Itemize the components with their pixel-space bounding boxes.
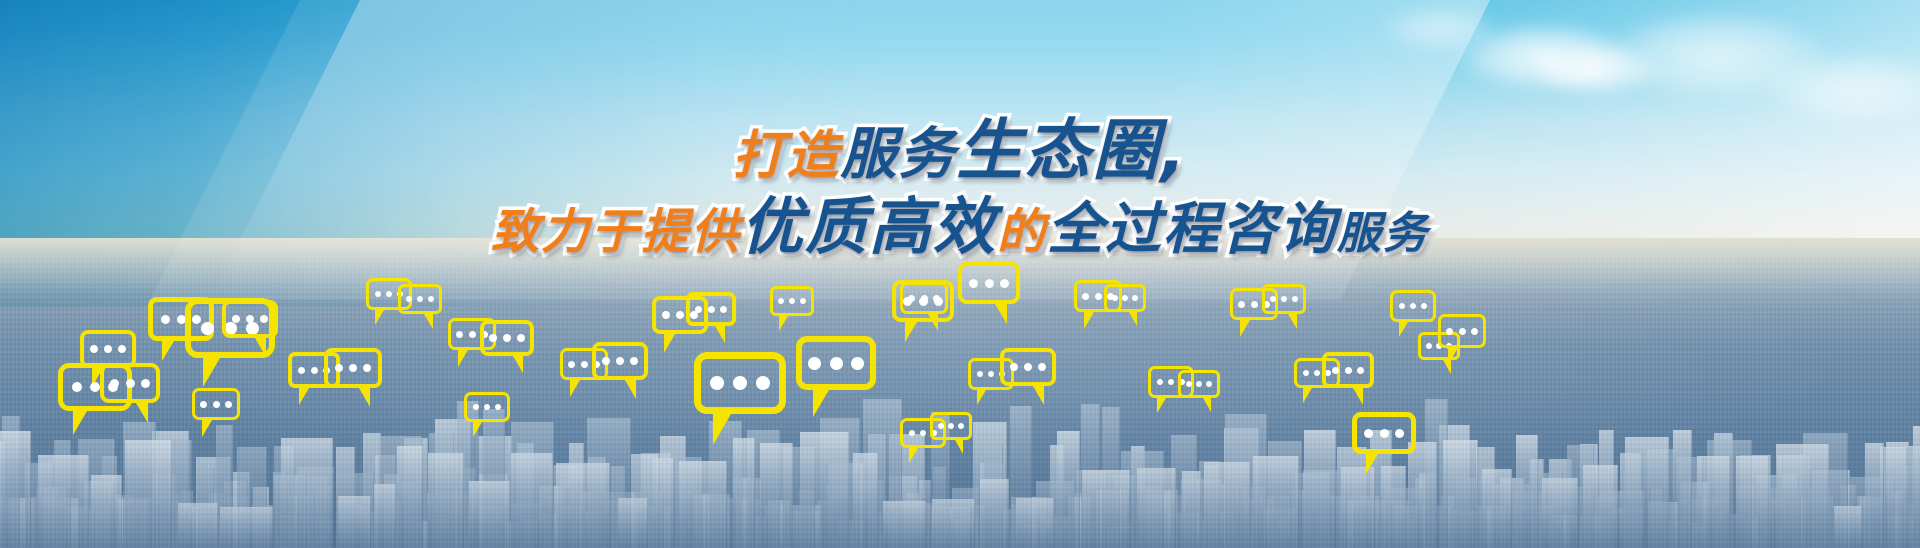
speech-bubble-icon bbox=[1178, 370, 1220, 398]
bubble-tail bbox=[1084, 312, 1094, 329]
bubble-dot bbox=[921, 295, 928, 302]
building bbox=[1482, 469, 1513, 548]
bubble-dot bbox=[695, 306, 702, 313]
building bbox=[1542, 478, 1577, 548]
bubble-dot bbox=[386, 291, 392, 297]
bubble-dot bbox=[977, 371, 983, 377]
building bbox=[932, 499, 975, 548]
building bbox=[1182, 471, 1201, 548]
bubble-dot bbox=[1095, 293, 1102, 300]
headline-segment: 打造 bbox=[732, 130, 840, 182]
bubble-tail bbox=[473, 422, 482, 437]
bubble-dot bbox=[1168, 379, 1174, 385]
bubble-tail bbox=[715, 326, 725, 343]
bubble-tail bbox=[136, 403, 148, 423]
bubble-tail bbox=[909, 448, 918, 463]
bubble-dot bbox=[110, 379, 119, 388]
bubble-dot bbox=[1399, 303, 1405, 309]
bubble-dot bbox=[720, 306, 727, 313]
bubble-dot bbox=[756, 376, 770, 390]
bubble-dot bbox=[298, 367, 305, 374]
building bbox=[38, 455, 89, 548]
building bbox=[653, 458, 674, 548]
bubble-dot bbox=[260, 315, 268, 323]
building bbox=[1583, 465, 1618, 548]
speech-bubble-icon bbox=[1390, 290, 1436, 322]
speech-bubble-icon bbox=[100, 363, 160, 403]
headline-line-2: 致力于提供优质高效的全过程咨询服务 bbox=[0, 196, 1920, 258]
speech-bubble-icon bbox=[1000, 348, 1056, 386]
building bbox=[338, 496, 371, 548]
building bbox=[1137, 468, 1176, 548]
bubble-dot bbox=[1410, 303, 1416, 309]
bubble-dot bbox=[1082, 293, 1089, 300]
bubble-dot bbox=[200, 401, 207, 408]
bubble-dot bbox=[104, 345, 112, 353]
bubble-tail bbox=[255, 338, 266, 357]
building bbox=[125, 440, 172, 548]
bubble-tail bbox=[1129, 312, 1137, 326]
bubble-dot bbox=[118, 345, 126, 353]
bubble-tail bbox=[203, 358, 220, 387]
building bbox=[1204, 462, 1251, 548]
speech-bubble-icon bbox=[464, 392, 510, 422]
bubble-tail bbox=[1157, 398, 1166, 413]
bubble-dot bbox=[335, 364, 343, 372]
speech-bubble-icon bbox=[222, 300, 278, 338]
building bbox=[679, 461, 727, 548]
bubble-dot bbox=[1364, 429, 1373, 438]
headline-segment: 全过程 bbox=[1047, 202, 1221, 258]
bubble-tail bbox=[1240, 320, 1250, 337]
bubble-dot bbox=[489, 334, 497, 342]
bubble-tail bbox=[955, 440, 963, 454]
bubble-dot bbox=[225, 401, 232, 408]
headline-segment: 服务 bbox=[840, 127, 956, 183]
bubble-dot bbox=[1446, 328, 1453, 335]
bubble-dot bbox=[1421, 303, 1427, 309]
bubble-dot bbox=[1459, 328, 1466, 335]
building bbox=[1673, 430, 1692, 548]
speech-bubble-icon bbox=[1262, 284, 1306, 314]
building bbox=[469, 481, 509, 548]
bubble-dot bbox=[141, 379, 150, 388]
building bbox=[853, 453, 878, 548]
bubble-dot bbox=[908, 295, 915, 302]
building bbox=[1082, 470, 1130, 548]
bubble-dot bbox=[1038, 363, 1046, 371]
building bbox=[374, 484, 395, 548]
building bbox=[980, 479, 1009, 548]
bubble-tail bbox=[299, 388, 309, 405]
bubble-dot bbox=[1024, 363, 1032, 371]
bubble-dot bbox=[630, 357, 638, 365]
bubble-tail bbox=[1448, 348, 1458, 365]
headline-line-1: 打造服务生态圈, bbox=[0, 118, 1920, 184]
bubble-tail bbox=[424, 314, 433, 329]
bubble-dot bbox=[789, 298, 795, 304]
bubble-dot bbox=[232, 315, 240, 323]
building bbox=[1776, 444, 1829, 548]
bubble-tail bbox=[1203, 398, 1211, 412]
bubble-tail bbox=[1353, 388, 1363, 405]
speech-bubble-icon bbox=[1352, 412, 1416, 454]
building bbox=[618, 498, 648, 548]
bubble-tail bbox=[162, 341, 174, 361]
building bbox=[511, 453, 553, 548]
building bbox=[1834, 506, 1862, 548]
building bbox=[760, 443, 793, 548]
bubble-tail bbox=[1399, 322, 1408, 337]
bubble-dot bbox=[1314, 370, 1320, 376]
speech-bubble-icon bbox=[694, 352, 786, 414]
headline-segment: 的 bbox=[997, 208, 1047, 256]
bubble-tail bbox=[625, 380, 636, 399]
building bbox=[1697, 456, 1730, 548]
building bbox=[1865, 443, 1884, 548]
bubble-dot bbox=[469, 331, 476, 338]
bubble-dot bbox=[1380, 429, 1389, 438]
bubble-dot bbox=[495, 404, 501, 410]
bubble-dot bbox=[311, 367, 318, 374]
speech-bubble-icon bbox=[1104, 284, 1146, 312]
bubble-dot bbox=[1000, 279, 1009, 288]
building bbox=[220, 507, 273, 548]
bubble-dot bbox=[710, 376, 724, 390]
building bbox=[1057, 431, 1080, 548]
building bbox=[1516, 435, 1538, 548]
headline-segment: 服务 bbox=[1337, 212, 1429, 256]
bubble-dot bbox=[616, 357, 624, 365]
building bbox=[1443, 440, 1478, 548]
bubble-dot bbox=[602, 357, 610, 365]
headline-segment: 生态圈, bbox=[956, 118, 1187, 184]
building bbox=[91, 475, 122, 548]
bubble-tail bbox=[664, 334, 675, 353]
building bbox=[1341, 467, 1375, 548]
bubble-dot bbox=[958, 423, 964, 429]
building bbox=[1408, 442, 1437, 548]
bubble-dot bbox=[406, 296, 412, 302]
bubble-dot bbox=[1426, 343, 1432, 349]
bubble-tail bbox=[977, 390, 986, 405]
bubble-tail bbox=[1033, 386, 1044, 405]
bubble-tail bbox=[713, 414, 731, 445]
bubble-tail bbox=[779, 316, 788, 331]
bubble-dot bbox=[484, 404, 490, 410]
building bbox=[178, 503, 219, 548]
bubble-tail bbox=[928, 314, 938, 331]
speech-bubble-icon bbox=[930, 412, 972, 440]
bubble-dot bbox=[1357, 367, 1364, 374]
bubble-tail bbox=[570, 380, 580, 397]
speech-bubble-icon bbox=[398, 284, 442, 314]
building bbox=[800, 432, 849, 548]
bubble-dot bbox=[1206, 381, 1212, 387]
building bbox=[397, 446, 423, 548]
building bbox=[1304, 430, 1336, 548]
building bbox=[1381, 466, 1406, 548]
bubble-dot bbox=[349, 364, 357, 372]
bubble-dot bbox=[1112, 295, 1118, 301]
speech-bubble-icon bbox=[192, 388, 240, 420]
building bbox=[883, 501, 925, 548]
bubble-dot bbox=[969, 279, 978, 288]
bubble-dot bbox=[1471, 328, 1478, 335]
bubble-dot bbox=[90, 345, 98, 353]
bubble-dot bbox=[417, 296, 423, 302]
bubble-dot bbox=[662, 311, 670, 319]
bubble-dot bbox=[851, 357, 864, 370]
bubble-dot bbox=[213, 401, 220, 408]
bubble-dot bbox=[246, 315, 254, 323]
bubble-dot bbox=[920, 430, 926, 436]
headline-segment: 优质高效 bbox=[741, 196, 997, 258]
bubble-dot bbox=[808, 357, 821, 370]
bubble-tail bbox=[995, 304, 1007, 324]
bubble-tail bbox=[1303, 388, 1312, 403]
bubble-dot bbox=[985, 279, 994, 288]
bubble-dot bbox=[1157, 379, 1163, 385]
bubble-dot bbox=[1281, 296, 1287, 302]
bubble-dot bbox=[363, 364, 371, 372]
bubble-dot bbox=[90, 382, 100, 392]
bubble-dot bbox=[830, 357, 843, 370]
headline-segment: 咨询 bbox=[1221, 202, 1337, 258]
building bbox=[733, 438, 755, 548]
building bbox=[1625, 437, 1669, 548]
bubble-dot bbox=[1132, 295, 1138, 301]
speech-bubble-icon bbox=[770, 286, 814, 316]
speech-bubble-icon bbox=[480, 320, 534, 356]
bubble-dot bbox=[1270, 296, 1276, 302]
bubble-tail bbox=[905, 322, 917, 342]
headline-segment: 致力于提供 bbox=[491, 208, 741, 256]
bubble-tail bbox=[73, 411, 87, 435]
bubble-dot bbox=[1238, 301, 1245, 308]
bubble-tail bbox=[458, 350, 468, 367]
speech-bubble-icon bbox=[686, 292, 736, 326]
bubble-tail bbox=[513, 356, 523, 373]
speech-bubble-icon bbox=[1438, 314, 1486, 348]
bubble-dot bbox=[733, 376, 747, 390]
bubble-tail bbox=[1366, 454, 1378, 474]
bubble-dot bbox=[517, 334, 525, 342]
bubble-dot bbox=[1251, 301, 1258, 308]
bubble-dot bbox=[1395, 429, 1404, 438]
speech-bubble-icon bbox=[796, 336, 876, 390]
bubble-dot bbox=[72, 382, 82, 392]
bubble-dot bbox=[503, 334, 511, 342]
bubble-tail bbox=[375, 310, 384, 325]
bubble-tail bbox=[1288, 314, 1297, 329]
building bbox=[1886, 442, 1909, 548]
bubble-dot bbox=[1186, 381, 1192, 387]
bubble-dot bbox=[1345, 367, 1352, 374]
bubble-dot bbox=[581, 361, 588, 368]
bubble-tail bbox=[202, 420, 212, 437]
speech-bubble-icon bbox=[900, 282, 948, 314]
speech-bubble-icon bbox=[324, 348, 382, 388]
bubble-dot bbox=[456, 331, 463, 338]
bubble-dot bbox=[676, 311, 684, 319]
bubble-dot bbox=[948, 423, 954, 429]
bubble-dot bbox=[933, 295, 940, 302]
building bbox=[556, 463, 610, 548]
hero-banner: 打造服务生态圈, 致力于提供优质高效的全过程咨询服务 bbox=[0, 0, 1920, 548]
bubble-dot bbox=[1196, 381, 1202, 387]
bubble-dot bbox=[938, 423, 944, 429]
bubble-dot bbox=[708, 306, 715, 313]
building bbox=[1913, 426, 1920, 548]
bubble-dot bbox=[1332, 367, 1339, 374]
building bbox=[281, 438, 333, 548]
bubble-dot bbox=[800, 298, 806, 304]
bubble-dot bbox=[988, 371, 994, 377]
speech-bubble-icon bbox=[592, 342, 648, 380]
bubble-dot bbox=[428, 296, 434, 302]
bubble-dot bbox=[568, 361, 575, 368]
bubble-dot bbox=[1122, 295, 1128, 301]
bubble-tail bbox=[813, 390, 829, 417]
building bbox=[1253, 456, 1299, 548]
speech-bubble-icon bbox=[958, 262, 1020, 304]
bubble-dot bbox=[161, 315, 170, 324]
bubble-dot bbox=[1010, 363, 1018, 371]
bubble-dot bbox=[375, 291, 381, 297]
building bbox=[1736, 456, 1769, 548]
building bbox=[428, 453, 465, 548]
bubble-tail bbox=[359, 388, 370, 407]
bubble-dot bbox=[201, 322, 214, 335]
building bbox=[0, 431, 31, 548]
bubble-dot bbox=[126, 379, 135, 388]
building bbox=[1016, 498, 1054, 548]
bubble-dot bbox=[1292, 296, 1298, 302]
speech-bubble-icon bbox=[1322, 352, 1374, 388]
